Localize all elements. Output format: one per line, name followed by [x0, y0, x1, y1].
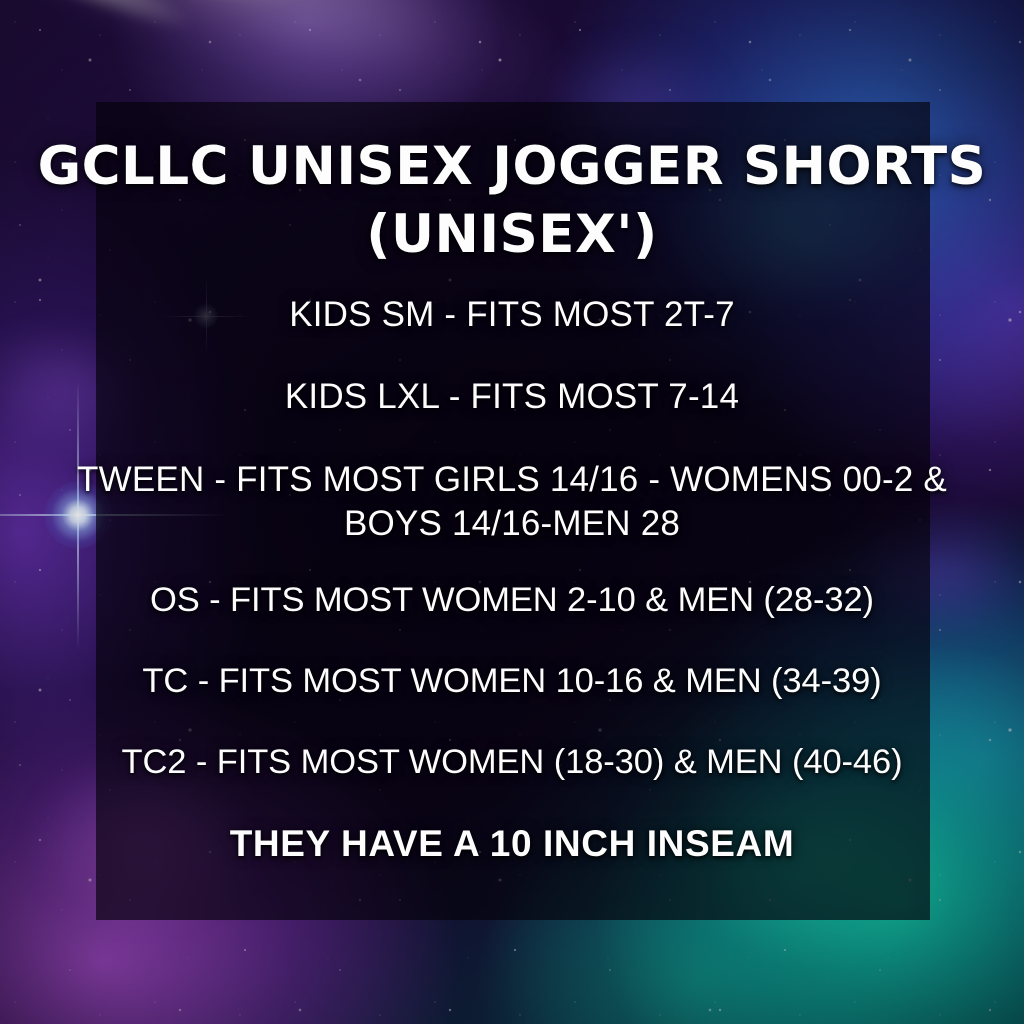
sizing-chart-poster: GCLLC UNISEX JOGGER SHORTS (UNISEX') KID… — [0, 0, 1024, 1024]
poster-title: GCLLC UNISEX JOGGER SHORTS — [38, 140, 987, 194]
poster-content: GCLLC UNISEX JOGGER SHORTS (UNISEX') KID… — [0, 0, 1024, 1024]
sizing-line-tc: TC - FITS MOST WOMEN 10-16 & MEN (34-39) — [142, 661, 881, 701]
sizing-line-kids-lxl: KIDS LXL - FITS MOST 7-14 — [285, 377, 739, 418]
sizing-line-list: KIDS SM - FITS MOST 2T-7 KIDS LXL - FITS… — [0, 295, 1024, 866]
sizing-line-tc2: TC2 - FITS MOST WOMEN (18-30) & MEN (40-… — [122, 742, 903, 782]
inseam-note: THEY HAVE A 10 INCH INSEAM — [230, 823, 795, 866]
poster-subtitle: (UNISEX') — [366, 208, 658, 261]
sizing-line-tween: TWEEN - FITS MOST GIRLS 14/16 - WOMENS 0… — [62, 458, 962, 546]
sizing-line-kids-sm: KIDS SM - FITS MOST 2T-7 — [289, 295, 735, 336]
sizing-line-os: OS - FITS MOST WOMEN 2-10 & MEN (28-32) — [150, 580, 874, 620]
